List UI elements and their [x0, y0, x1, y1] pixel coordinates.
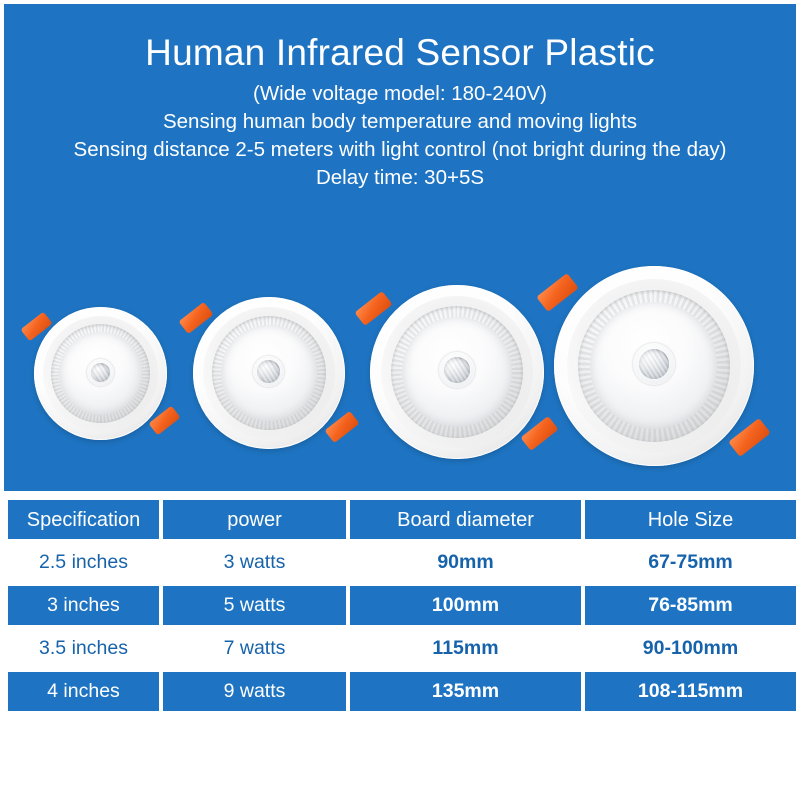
- pir-lens-facets: [639, 349, 669, 379]
- table-row: 2.5 inches 3 watts 90mm 67-75mm: [8, 543, 796, 582]
- downlight-2.5in: [34, 307, 167, 440]
- pir-lens-facets: [444, 357, 470, 383]
- hero-panel: Human Infrared Sensor Plastic (Wide volt…: [4, 4, 796, 491]
- pir-sensor-housing: [633, 343, 675, 385]
- cell-specification: 2.5 inches: [8, 543, 159, 582]
- table-row: 3 inches 5 watts 100mm 76-85mm: [8, 586, 796, 625]
- pir-sensor-housing: [87, 359, 114, 386]
- cell-board-diameter: 135mm: [350, 672, 581, 711]
- cell-board-diameter: 115mm: [350, 629, 581, 668]
- cell-hole-size: 108-115mm: [585, 672, 796, 711]
- pir-lens-facets: [257, 360, 280, 383]
- pir-sensor-housing: [253, 356, 284, 387]
- cell-hole-size: 67-75mm: [585, 543, 796, 582]
- pir-sensor-icon: [444, 357, 470, 383]
- cell-power: 9 watts: [163, 672, 346, 711]
- cell-board-diameter: 90mm: [350, 543, 581, 582]
- column-header-power: power: [163, 500, 346, 539]
- cell-power: 7 watts: [163, 629, 346, 668]
- product-infographic: Human Infrared Sensor Plastic (Wide volt…: [0, 0, 800, 800]
- cell-hole-size: 76-85mm: [585, 586, 796, 625]
- cell-hole-size: 90-100mm: [585, 629, 796, 668]
- cell-specification: 4 inches: [8, 672, 159, 711]
- cell-specification: 3.5 inches: [8, 629, 159, 668]
- column-header-hole-size: Hole Size: [585, 500, 796, 539]
- pir-lens-facets: [91, 363, 110, 382]
- downlight-3in: [193, 297, 345, 449]
- cell-specification: 3 inches: [8, 586, 159, 625]
- pir-sensor-icon: [639, 349, 669, 379]
- column-header-specification: Specification: [8, 500, 159, 539]
- downlight-4in: [554, 266, 754, 466]
- pir-sensor-icon: [257, 360, 280, 383]
- cell-power: 3 watts: [163, 543, 346, 582]
- specification-table: Specification power Board diameter Hole …: [4, 496, 800, 715]
- product-image-row: [4, 4, 796, 491]
- cell-power: 5 watts: [163, 586, 346, 625]
- table-header-row: Specification power Board diameter Hole …: [8, 500, 796, 539]
- pir-sensor-housing: [439, 352, 475, 388]
- table-row: 4 inches 9 watts 135mm 108-115mm: [8, 672, 796, 711]
- column-header-board-diameter: Board diameter: [350, 500, 581, 539]
- downlight-3.5in: [370, 285, 544, 459]
- cell-board-diameter: 100mm: [350, 586, 581, 625]
- table-row: 3.5 inches 7 watts 115mm 90-100mm: [8, 629, 796, 668]
- pir-sensor-icon: [91, 363, 110, 382]
